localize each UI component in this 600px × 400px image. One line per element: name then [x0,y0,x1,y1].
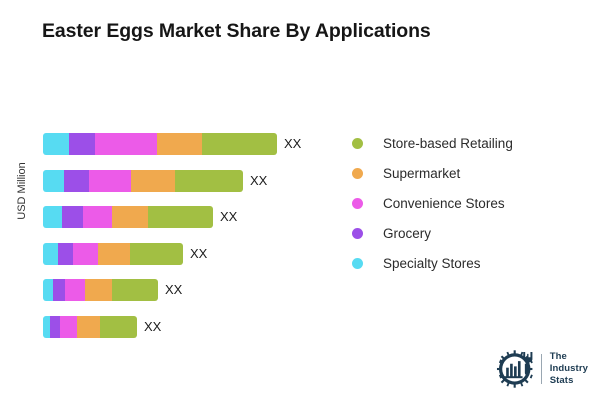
bar-stack [43,170,243,192]
bar-segment[interactable] [89,170,131,192]
logo-line-2: Industry [550,363,588,375]
bar-segment[interactable] [43,316,50,338]
bar-row[interactable]: XX [43,206,237,228]
bar-row[interactable]: XX [43,316,161,338]
bar-segment[interactable] [112,279,158,301]
bar-segment[interactable] [100,316,137,338]
bar-segment[interactable] [148,206,213,228]
legend-color-dot-icon [352,168,363,179]
legend-item[interactable]: Grocery [352,218,572,248]
legend-color-dot-icon [352,258,363,269]
chart-legend: Store-based RetailingSupermarketConvenie… [352,128,572,278]
bar-segment[interactable] [64,170,89,192]
bar-value-label: XX [243,170,267,192]
logo-text: The Industry Stats [550,351,588,387]
bar-stack [43,316,137,338]
logo-line-1: The [550,351,588,363]
bar-segment[interactable] [85,279,112,301]
bar-segment[interactable] [77,316,100,338]
bar-segment[interactable] [130,243,183,265]
brand-logo: The Industry Stats [495,348,588,390]
legend-color-dot-icon [352,228,363,239]
bar-row[interactable]: XX [43,133,301,155]
logo-line-3: Stats [550,375,588,387]
bar-segment[interactable] [58,243,73,265]
bar-segment[interactable] [53,279,65,301]
legend-item-label: Grocery [383,226,431,241]
bar-segment[interactable] [98,243,130,265]
bar-segment[interactable] [131,170,175,192]
bar-segment[interactable] [202,133,277,155]
bar-value-label: XX [183,243,207,265]
bar-segment[interactable] [175,170,243,192]
bar-value-label: XX [158,279,182,301]
legend-item-label: Convenience Stores [383,196,505,211]
bar-segment[interactable] [43,279,53,301]
bar-segment[interactable] [83,206,112,228]
bar-segment[interactable] [50,316,60,338]
bar-segment[interactable] [69,133,95,155]
bar-row[interactable]: XX [43,170,267,192]
bar-segment[interactable] [65,279,85,301]
bar-segment[interactable] [43,243,58,265]
y-axis-label: USD Million [16,131,28,251]
legend-item-label: Store-based Retailing [383,136,513,151]
bar-segment[interactable] [62,206,83,228]
bar-segment[interactable] [60,316,77,338]
legend-item[interactable]: Store-based Retailing [352,128,572,158]
chart-container: Easter Eggs Market Share By Applications… [0,0,600,400]
legend-item[interactable]: Convenience Stores [352,188,572,218]
bar-stack [43,243,183,265]
legend-item-label: Supermarket [383,166,460,181]
bar-value-label: XX [213,206,237,228]
bar-row[interactable]: XX [43,279,182,301]
page-title: Easter Eggs Market Share By Applications [42,18,442,44]
bar-segment[interactable] [73,243,98,265]
bar-segment[interactable] [157,133,202,155]
bar-segment[interactable] [43,170,64,192]
bar-segment[interactable] [43,133,69,155]
legend-item-label: Specialty Stores [383,256,481,271]
bar-row[interactable]: XX [43,243,207,265]
bar-stack [43,206,213,228]
bar-segment[interactable] [95,133,157,155]
bar-segment[interactable] [43,206,62,228]
bar-value-label: XX [137,316,161,338]
bar-segment[interactable] [112,206,148,228]
bar-stack [43,133,277,155]
logo-divider [541,354,542,384]
legend-color-dot-icon [352,138,363,149]
legend-item[interactable]: Supermarket [352,158,572,188]
legend-item[interactable]: Specialty Stores [352,248,572,278]
bar-stack [43,279,158,301]
legend-color-dot-icon [352,198,363,209]
bar-value-label: XX [277,133,301,155]
gear-wrench-icon [495,348,537,390]
plot-area: XXXXXXXXXXXX [43,133,343,355]
